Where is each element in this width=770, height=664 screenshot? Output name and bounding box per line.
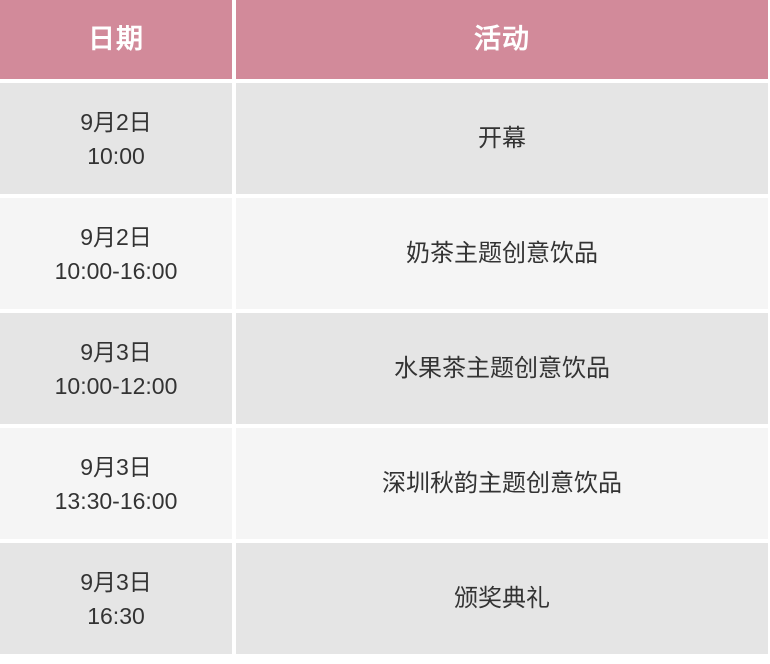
table-header-row: 日期 活动 — [0, 0, 770, 79]
date-time-text: 13:30-16:00 — [55, 484, 178, 518]
date-time-text: 10:00 — [87, 139, 145, 173]
column-header-date: 日期 — [0, 0, 234, 79]
date-time-text: 16:30 — [87, 599, 145, 633]
table-row: 9月3日 10:00-12:00 水果茶主题创意饮品 — [0, 309, 770, 424]
cell-date: 9月2日 10:00 — [0, 79, 234, 194]
date-day-text: 9月3日 — [80, 565, 152, 599]
cell-activity: 颁奖典礼 — [234, 539, 770, 654]
table-body: 9月2日 10:00 开幕 9月2日 10:00-16:00 奶茶主题创意饮品 — [0, 79, 770, 654]
table-row: 9月3日 16:30 颁奖典礼 — [0, 539, 770, 654]
date-time-text: 10:00-16:00 — [55, 254, 178, 288]
column-header-activity: 活动 — [234, 0, 770, 79]
table-row: 9月2日 10:00 开幕 — [0, 79, 770, 194]
activity-text: 开幕 — [478, 122, 526, 156]
date-day-text: 9月3日 — [80, 450, 152, 484]
date-day-text: 9月2日 — [80, 105, 152, 139]
cell-activity: 深圳秋韵主题创意饮品 — [234, 424, 770, 539]
activity-text: 颁奖典礼 — [454, 582, 550, 616]
activity-text: 深圳秋韵主题创意饮品 — [382, 467, 622, 501]
table-row: 9月2日 10:00-16:00 奶茶主题创意饮品 — [0, 194, 770, 309]
column-header-activity-label: 活动 — [236, 0, 768, 79]
cell-date: 9月2日 10:00-16:00 — [0, 194, 234, 309]
cell-date: 9月3日 13:30-16:00 — [0, 424, 234, 539]
date-day-text: 9月3日 — [80, 335, 152, 369]
activity-text: 奶茶主题创意饮品 — [406, 237, 598, 271]
activity-text: 水果茶主题创意饮品 — [394, 352, 610, 386]
cell-date: 9月3日 10:00-12:00 — [0, 309, 234, 424]
table-row: 9月3日 13:30-16:00 深圳秋韵主题创意饮品 — [0, 424, 770, 539]
event-schedule-table: 日期 活动 9月2日 10:00 开幕 9月2日 — [0, 0, 770, 654]
table-header: 日期 活动 — [0, 0, 770, 79]
column-header-date-label: 日期 — [0, 0, 232, 79]
cell-activity: 开幕 — [234, 79, 770, 194]
cell-activity: 奶茶主题创意饮品 — [234, 194, 770, 309]
date-time-text: 10:00-12:00 — [55, 369, 178, 403]
cell-date: 9月3日 16:30 — [0, 539, 234, 654]
date-day-text: 9月2日 — [80, 220, 152, 254]
cell-activity: 水果茶主题创意饮品 — [234, 309, 770, 424]
